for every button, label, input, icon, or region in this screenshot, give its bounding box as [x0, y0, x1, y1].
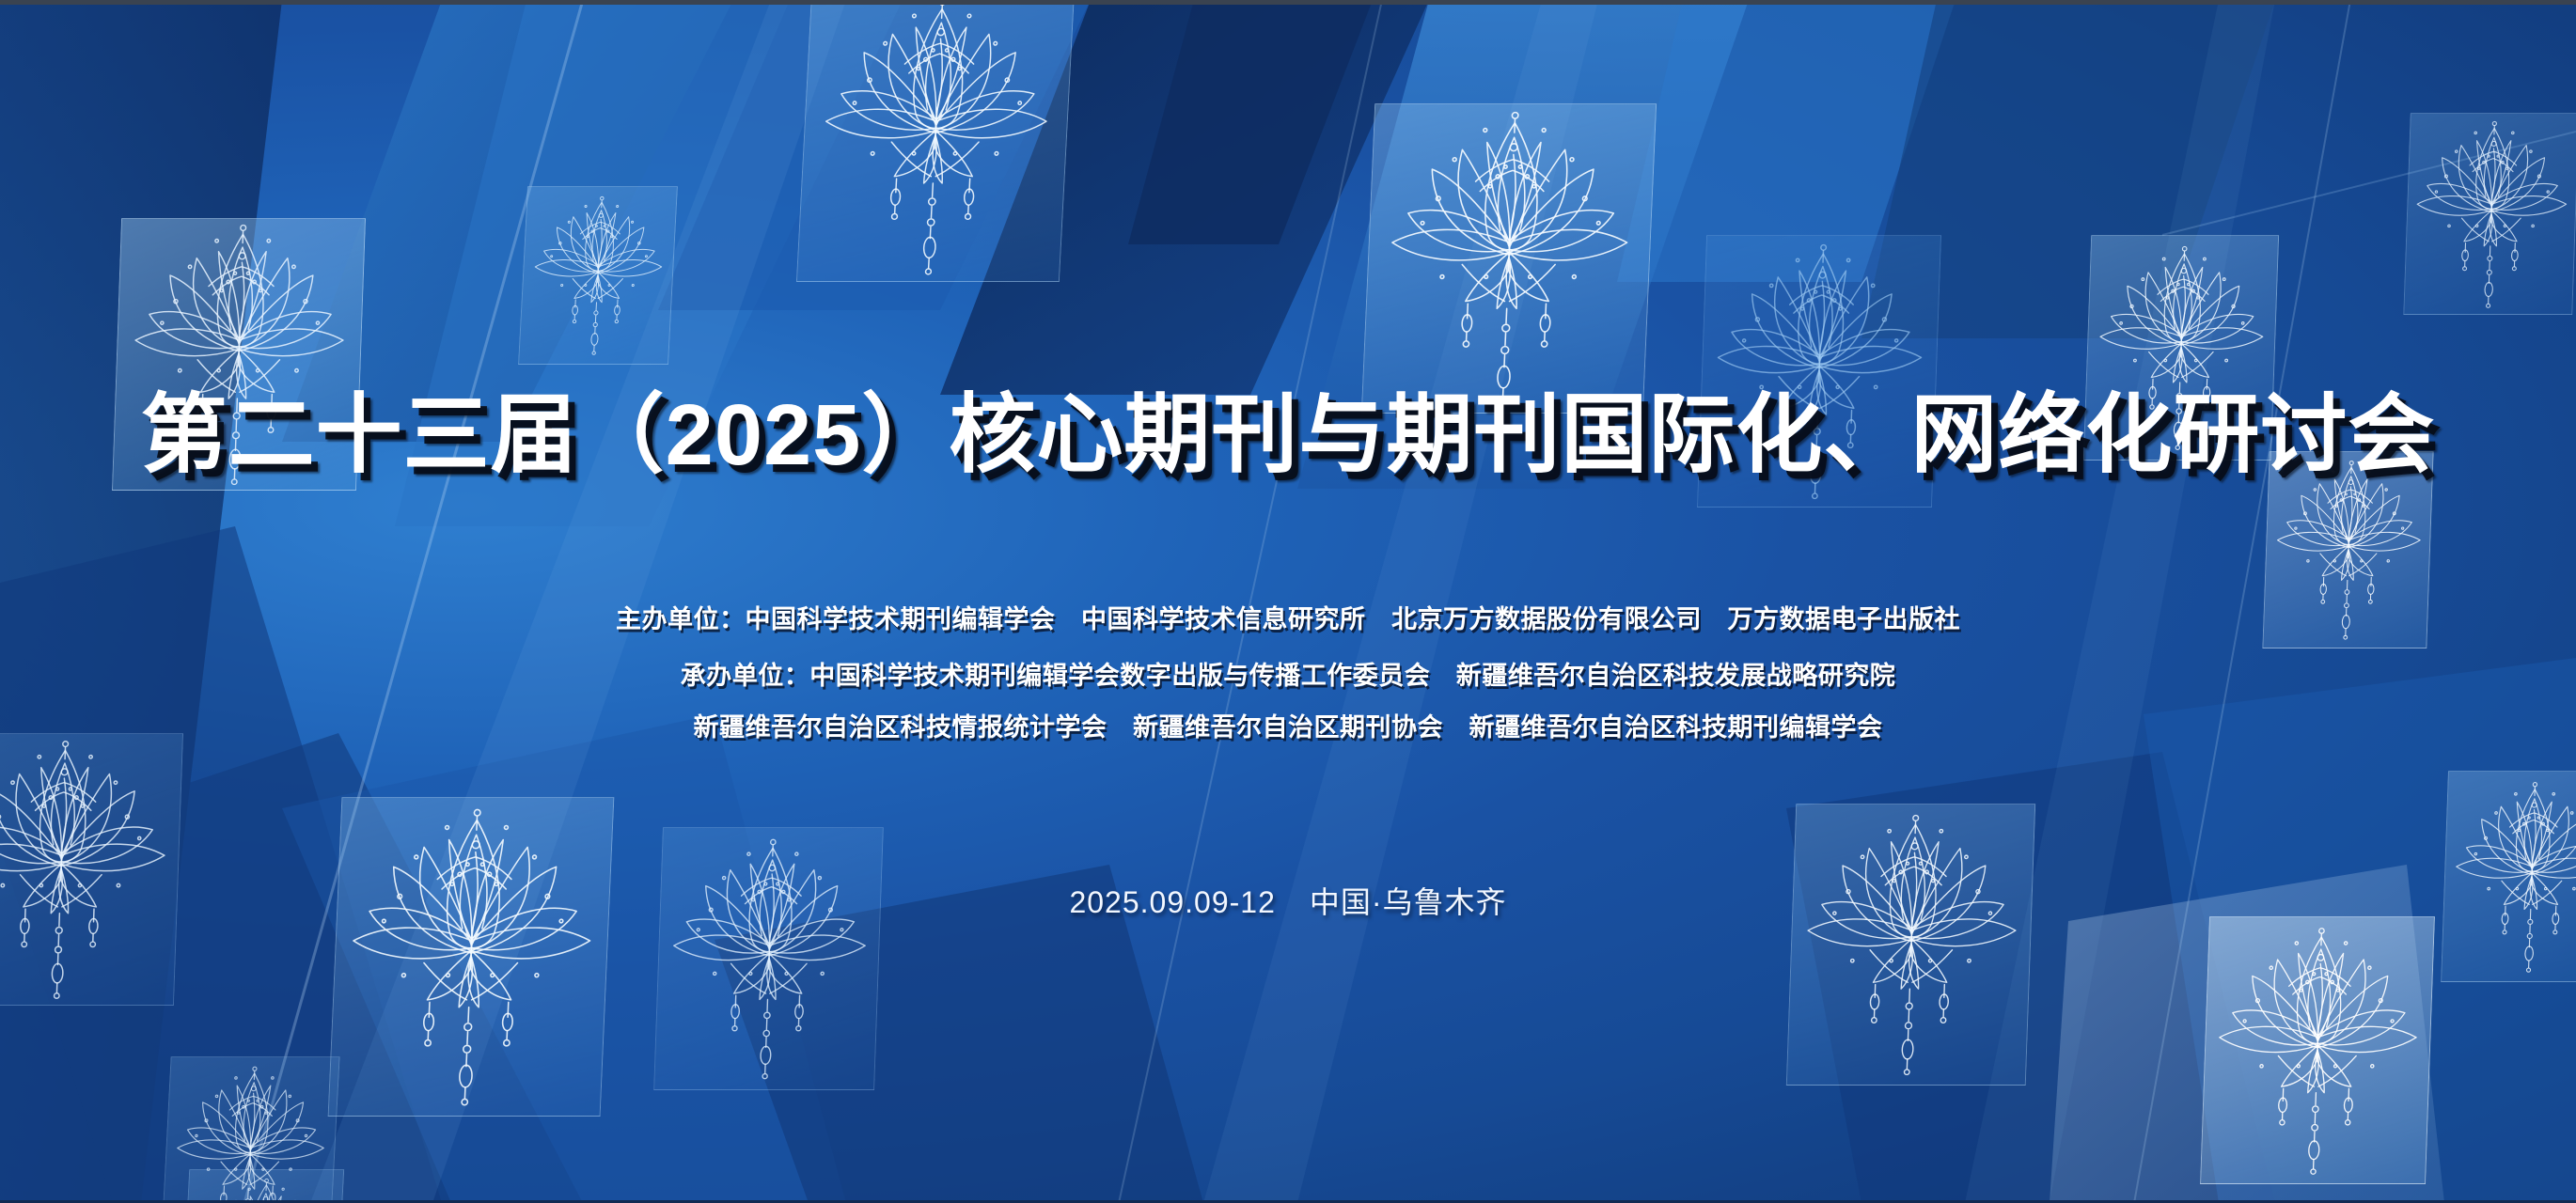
page-title: 第二十三届（2025）核心期刊与期刊国际化、网络化研讨会	[0, 365, 2576, 490]
co-host-organizers-line-2: 新疆维吾尔自治区科技情报统计学会 新疆维吾尔自治区期刊协会 新疆维吾尔自治区科技…	[0, 715, 2576, 741]
organizers-block: 主办单位：中国科学技术期刊编辑学会 中国科学技术信息研究所 北京万方数据股份有限…	[0, 607, 2576, 741]
co-host-organizers-line-1: 承办单位：中国科学技术期刊编辑学会数字出版与传播工作委员会 新疆维吾尔自治区科技…	[0, 664, 2576, 689]
host-organizers-line: 主办单位：中国科学技术期刊编辑学会 中国科学技术信息研究所 北京万方数据股份有限…	[0, 607, 2576, 633]
conference-banner: 第二十三届（2025）核心期刊与期刊国际化、网络化研讨会 主办单位：中国科学技术…	[0, 0, 2576, 1203]
event-date: 2025.09.09-12	[1069, 885, 1275, 919]
banner-text-layer: 第二十三届（2025）核心期刊与期刊国际化、网络化研讨会 主办单位：中国科学技术…	[0, 0, 2576, 1203]
event-date-location: 2025.09.09-12中国·乌鲁木齐	[0, 879, 2576, 922]
top-edge-strip	[0, 0, 2576, 5]
event-location: 中国·乌鲁木齐	[1310, 885, 1507, 919]
